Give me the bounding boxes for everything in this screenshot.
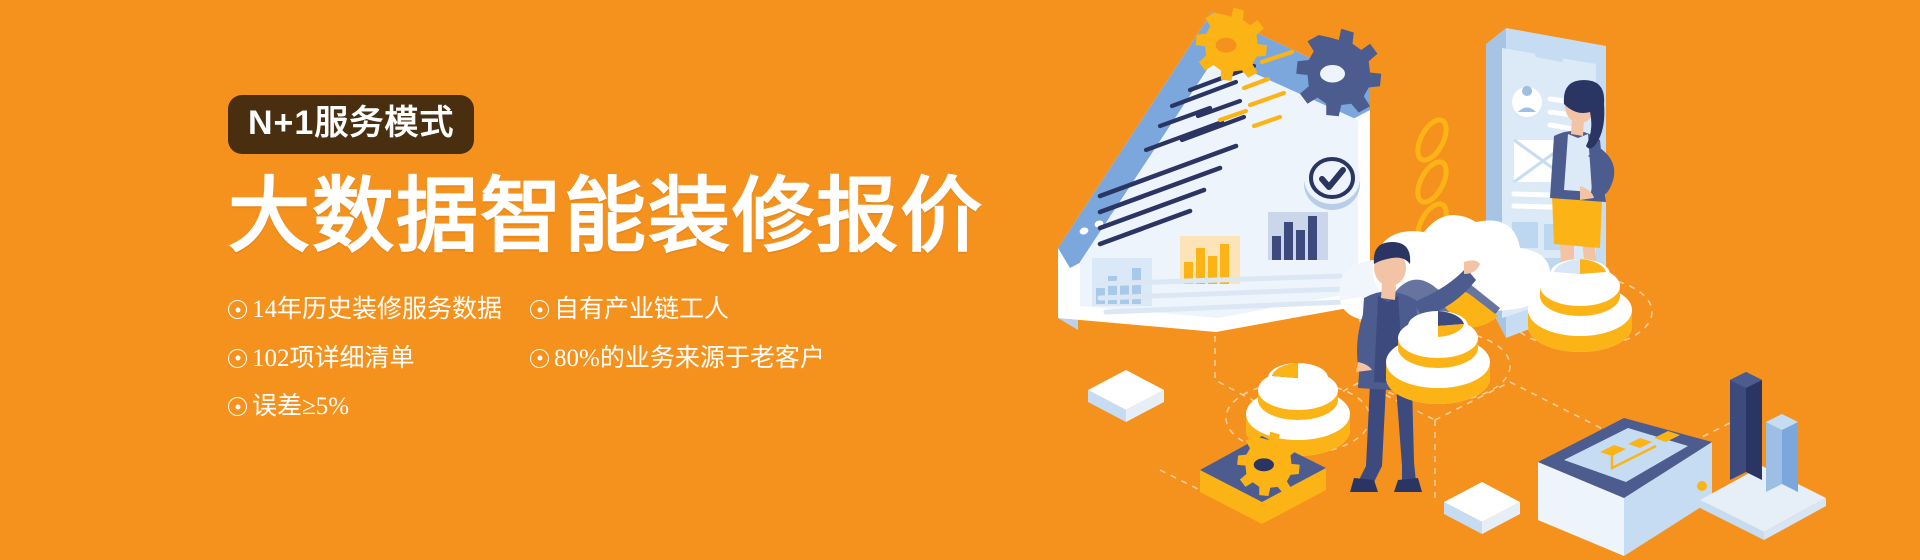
feature-list: 14年历史装修服务数据 102项详细清单 误差≥5% 自有产业链工人 — [228, 296, 928, 421]
floating-tile-bottom — [1444, 482, 1520, 534]
server-box — [1538, 418, 1712, 560]
circled-dot-icon — [530, 349, 549, 368]
list-item: 误差≥5% — [228, 393, 496, 421]
banner-text-block: N+1服务模式 大数据智能装修报价 14年历史装修服务数据 102项详细清单 误… — [228, 95, 928, 421]
floating-tile-left — [1088, 370, 1164, 422]
service-model-badge: N+1服务模式 — [228, 95, 474, 154]
bar-chart-blocks-right — [1700, 372, 1826, 540]
checkmark-badge — [1304, 152, 1360, 210]
list-item: 80%的业务来源于老客户 — [530, 345, 830, 373]
isometric-illustration — [1040, 0, 1920, 560]
promo-banner: N+1服务模式 大数据智能装修报价 14年历史装修服务数据 102项详细清单 误… — [0, 0, 1920, 560]
circled-dot-icon — [228, 349, 247, 368]
page-title: 大数据智能装修报价 — [228, 176, 928, 258]
list-item: 自有产业链工人 — [530, 296, 830, 324]
list-item-label: 误差≥5% — [252, 393, 349, 421]
list-item-label: 自有产业链工人 — [554, 296, 729, 324]
list-item: 14年历史装修服务数据 — [228, 296, 496, 324]
list-item-label: 80%的业务来源于老客户 — [554, 345, 825, 373]
feature-column-left: 14年历史装修服务数据 102项详细清单 误差≥5% — [228, 296, 496, 421]
list-item: 102项详细清单 — [228, 345, 496, 373]
list-item-label: 14年历史装修服务数据 — [252, 296, 502, 324]
circled-dot-icon — [228, 300, 247, 319]
pixel-bar-chart-orange — [1180, 236, 1240, 284]
circled-dot-icon — [530, 300, 549, 319]
pixel-bar-chart-navy — [1268, 212, 1328, 260]
feature-column-right: 自有产业链工人 80%的业务来源于老客户 — [530, 296, 830, 421]
circled-dot-icon — [228, 397, 247, 416]
list-item-label: 102项详细清单 — [252, 345, 415, 373]
